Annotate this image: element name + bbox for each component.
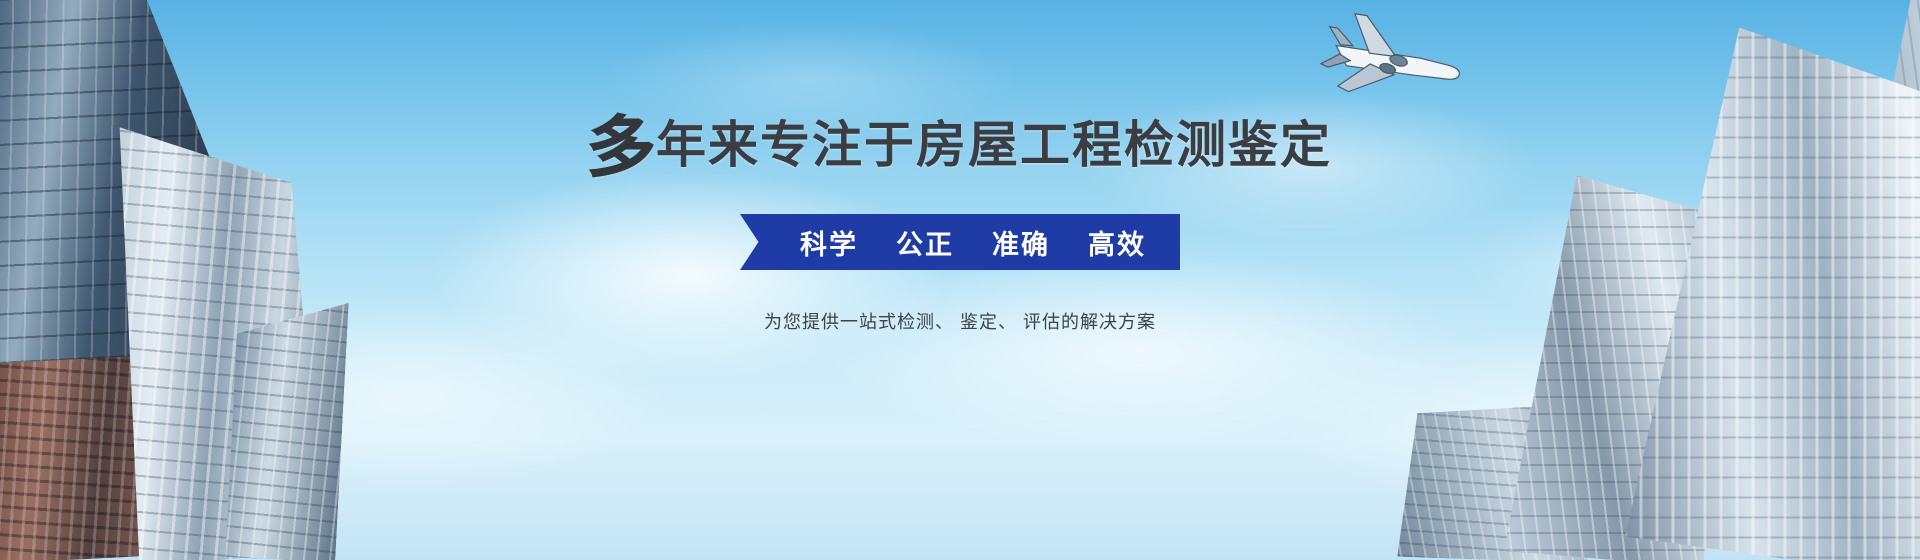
page-title: 多年来专注于房屋工程检测鉴定 (0, 115, 1920, 177)
keyword-ribbon: 科学 公正 准确 高效 (0, 214, 1920, 270)
ribbon-word-1: 科学 (800, 223, 858, 262)
headline-rest-text: 年来专注于房屋工程检测鉴定 (656, 117, 1332, 173)
ribbon-word-list: 科学 公正 准确 高效 (774, 223, 1146, 262)
ribbon-word-3: 准确 (992, 223, 1050, 262)
banner-subtitle: 为您提供一站式检测、 鉴定、 评估的解决方案 (0, 308, 1920, 334)
headline-lead-character: 多 (586, 117, 655, 177)
ribbon-shape: 科学 公正 准确 高效 (740, 214, 1180, 270)
banner-content: 多年来专注于房屋工程检测鉴定 科学 公正 准确 高效 为您提供一站式检测、 鉴定… (0, 0, 1920, 560)
hero-banner: 多年来专注于房屋工程检测鉴定 科学 公正 准确 高效 为您提供一站式检测、 鉴定… (0, 0, 1920, 560)
ribbon-word-4: 高效 (1088, 223, 1146, 262)
ribbon-word-2: 公正 (896, 223, 954, 262)
